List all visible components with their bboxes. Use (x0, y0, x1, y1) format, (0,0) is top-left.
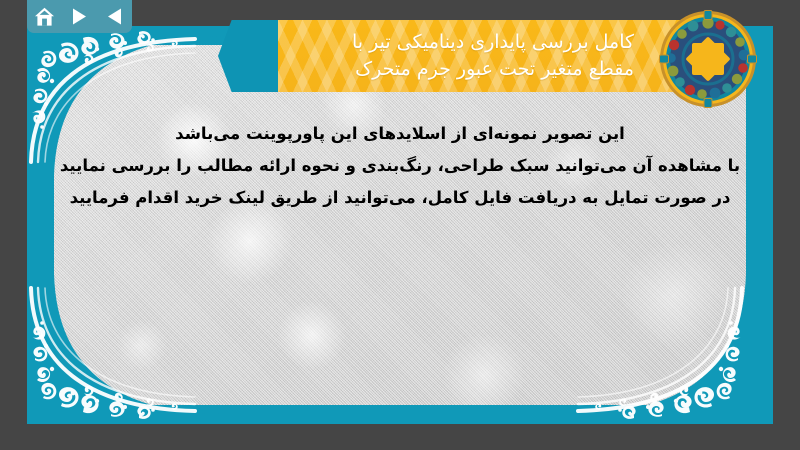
navigation-bar (27, 0, 132, 33)
slide-body-text: این تصویر نمونه‌ای از اسلایدهای این پاور… (40, 118, 760, 215)
body-line-1: این تصویر نمونه‌ای از اسلایدهای این پاور… (40, 118, 760, 150)
slide-content-panel (54, 45, 746, 405)
home-icon (34, 7, 55, 27)
persian-medallion-icon (658, 9, 758, 109)
title-banner: کامل بررسی پایداری دینامیکی تیر با مقطع … (278, 20, 710, 92)
previous-slide-button[interactable] (101, 4, 129, 30)
next-slide-button[interactable] (66, 4, 94, 30)
slide-viewer: این تصویر نمونه‌ای از اسلایدهای این پاور… (0, 0, 800, 450)
triangle-right-icon (71, 7, 88, 26)
slide-title: کامل بررسی پایداری دینامیکی تیر با مقطع … (278, 29, 648, 83)
home-button[interactable] (31, 4, 59, 30)
triangle-left-icon (106, 7, 123, 26)
body-line-3: در صورت تمایل به دریافت فایل کامل، می‌تو… (40, 182, 760, 214)
body-line-2: با مشاهده آن می‌توانید سبک طراحی، رنگ‌بن… (40, 150, 760, 182)
